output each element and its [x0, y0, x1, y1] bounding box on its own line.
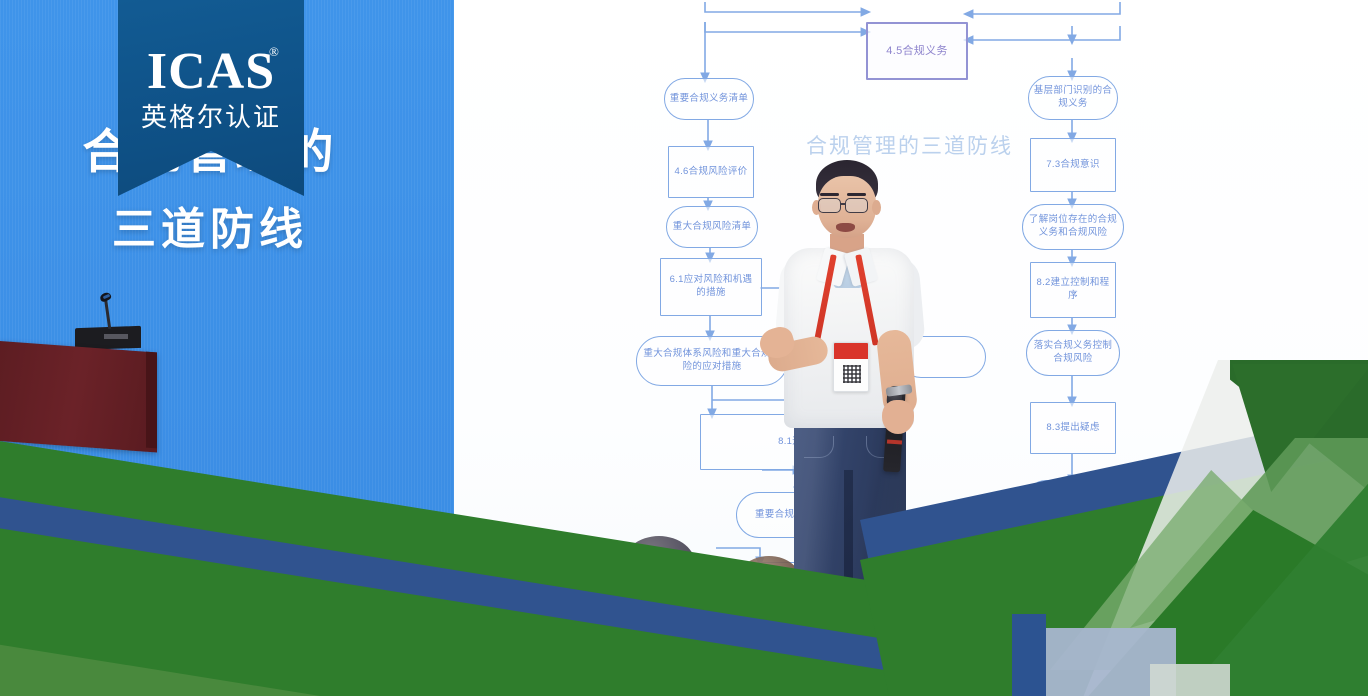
- presenter-eyebrow-right: [847, 193, 866, 196]
- slide-title-line-2: 三道防线: [0, 208, 420, 252]
- overlay-block-gray-2: [1150, 664, 1230, 696]
- eyeglasses-lens-right: [845, 198, 868, 213]
- presenter-mouth: [836, 223, 855, 232]
- presenter-ear-right: [872, 200, 881, 215]
- podium-body: [0, 341, 157, 453]
- presenter-hand-right: [882, 400, 914, 434]
- icas-chinese-name: 英格尔认证: [118, 104, 304, 130]
- overlay-block-blue: [1012, 614, 1046, 696]
- qr-code-icon: [843, 365, 861, 383]
- presenter-name-badge: [833, 342, 869, 392]
- screenshot-root: 合规管理的 三道防线 ICAS ® 英格尔认证: [0, 0, 1368, 696]
- eyeglasses-bridge: [841, 203, 846, 205]
- badge-header-stripe: [834, 343, 869, 359]
- podium-control-panel: [104, 334, 128, 339]
- presenter-eyebrow-left: [820, 193, 839, 196]
- eyeglasses-lens-left: [818, 198, 841, 213]
- registered-trademark-icon: ®: [269, 44, 279, 60]
- podium-side-edge: [146, 352, 157, 449]
